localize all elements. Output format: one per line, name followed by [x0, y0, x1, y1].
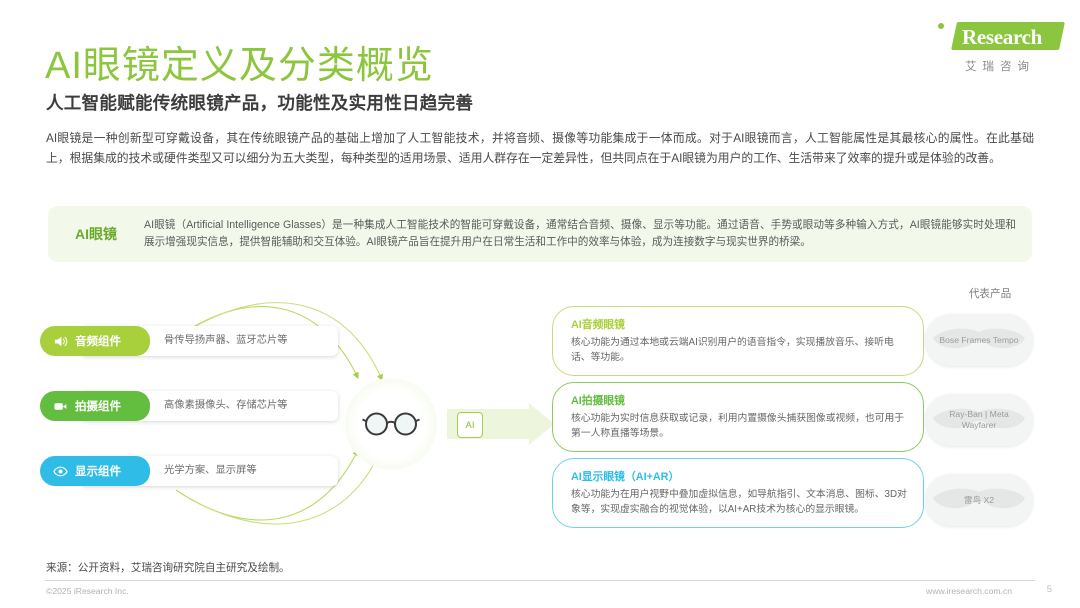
component-display[interactable]: 显示组件 光学方案、显示屏等 [40, 456, 340, 486]
component-label: 音频组件 [75, 333, 121, 349]
component-audio[interactable]: 音频组件 骨传导扬声器、蓝牙芯片等 [40, 326, 340, 356]
product-name: Bose Frames Tempo [933, 335, 1024, 346]
component-tag: 拍摄组件 [40, 391, 150, 421]
logo-i-letter [938, 23, 944, 30]
product-chip-rayban[interactable]: Ray-Ban | Meta Wayfarer [925, 394, 1033, 446]
definition-panel: AI眼镜 AI眼镜（Artificial Intelligence Glasse… [48, 206, 1032, 262]
copyright: ©2025 iResearch Inc. [46, 586, 129, 596]
category-title: AI拍摄眼镜 [571, 392, 907, 408]
definition-label: AI眼镜 [48, 224, 144, 244]
website-url: www.iresearch.com.cn [926, 586, 1012, 596]
category-card-display[interactable]: AI显示眼镜（AI+AR） 核心功能为在用户视野中叠加虚拟信息，如导航指引、文本… [552, 458, 924, 528]
component-camera[interactable]: 拍摄组件 高像素摄像头、存储芯片等 [40, 391, 340, 421]
product-name: 雷鸟 X2 [958, 495, 1000, 506]
component-desc: 骨传导扬声器、蓝牙芯片等 [164, 326, 288, 356]
glasses-icon [362, 411, 420, 437]
definition-text: AI眼镜（Artificial Intelligence Glasses）是一种… [144, 217, 1032, 251]
intro-paragraph: AI眼镜是一种创新型可穿戴设备，其在传统眼镜产品的基础上增加了人工智能技术，并将… [46, 128, 1034, 168]
component-desc: 光学方案、显示屏等 [164, 456, 257, 486]
slide: Research 艾瑞咨询 AI眼镜定义及分类概览 人工智能赋能传统眼镜产品，功… [0, 0, 1080, 608]
logo-wordmark: Research [962, 24, 1042, 50]
source-note: 来源：公开资料，艾瑞咨询研究院自主研究及绘制。 [46, 560, 290, 575]
page-subtitle: 人工智能赋能传统眼镜产品，功能性及实用性日趋完善 [46, 90, 473, 115]
ai-arrow: AI [447, 403, 555, 445]
product-name: Ray-Ban | Meta Wayfarer [925, 409, 1033, 431]
logo-mark: Research [932, 22, 1062, 52]
component-desc: 高像素摄像头、存储芯片等 [164, 391, 288, 421]
category-text: 核心功能为在用户视野中叠加虚拟信息，如导航指引、文本消息、图标、3D对象等，实现… [571, 487, 907, 517]
ai-badge: AI [457, 412, 483, 438]
component-tag: 显示组件 [40, 456, 150, 486]
eye-icon [53, 464, 68, 479]
category-text: 核心功能为实时信息获取或记录，利用内置摄像头捕获图像或视频，也可用于第一人称直播… [571, 411, 907, 441]
iresearch-logo: Research 艾瑞咨询 [932, 22, 1062, 74]
logo-chinese-name: 艾瑞咨询 [932, 58, 1062, 74]
footer-divider [45, 580, 1035, 581]
page-title: AI眼镜定义及分类概览 [45, 34, 434, 89]
category-title: AI显示眼镜（AI+AR） [571, 468, 907, 484]
products-heading: 代表产品 [930, 286, 1050, 301]
camera-icon [53, 399, 68, 414]
center-hub [345, 378, 437, 470]
component-tag: 音频组件 [40, 326, 150, 356]
diagram: 音频组件 骨传导扬声器、蓝牙芯片等 拍摄组件 高像素摄像头、存储芯片等 [0, 278, 1080, 548]
component-label: 拍摄组件 [75, 398, 121, 414]
category-title: AI音频眼镜 [571, 316, 907, 332]
component-label: 显示组件 [75, 463, 121, 479]
product-chip-xreal[interactable]: 雷鸟 X2 [925, 474, 1033, 526]
category-card-camera[interactable]: AI拍摄眼镜 核心功能为实时信息获取或记录，利用内置摄像头捕获图像或视频，也可用… [552, 382, 924, 452]
logo-i-dot [938, 23, 944, 29]
page-number: 5 [1047, 584, 1052, 595]
speaker-icon [53, 334, 68, 349]
category-card-audio[interactable]: AI音频眼镜 核心功能为通过本地或云端AI识别用户的语音指令，实现播放音乐、接听… [552, 306, 924, 376]
category-text: 核心功能为通过本地或云端AI识别用户的语音指令，实现播放音乐、接听电话、等功能。 [571, 335, 907, 365]
product-chip-bose[interactable]: Bose Frames Tempo [925, 314, 1033, 366]
